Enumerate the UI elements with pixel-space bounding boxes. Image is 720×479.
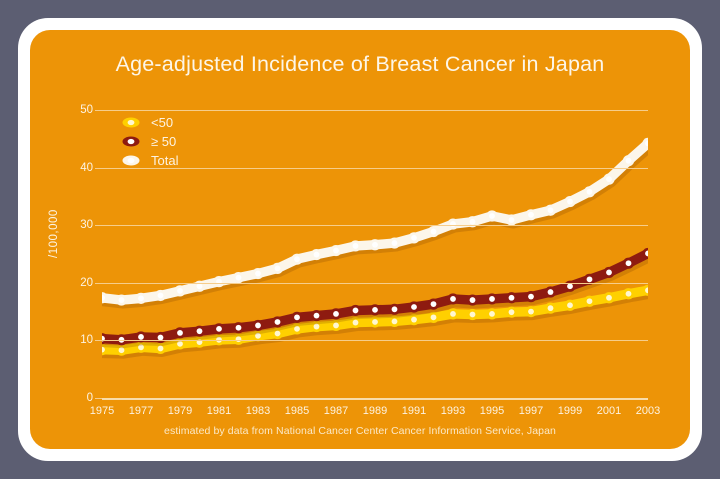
data-point xyxy=(353,308,359,314)
gridline xyxy=(102,225,648,226)
data-point xyxy=(294,256,300,262)
data-point xyxy=(411,317,417,323)
data-point xyxy=(528,212,534,218)
y-tick-dash xyxy=(95,398,102,399)
x-tick-label: 2001 xyxy=(597,405,621,417)
y-tick-dash xyxy=(95,225,102,226)
legend-marker-icon xyxy=(120,154,142,167)
data-point xyxy=(587,276,593,282)
x-tick-label: 1987 xyxy=(324,405,348,417)
screenshot-root: Age-adjusted Incidence of Breast Cancer … xyxy=(0,0,720,479)
y-tick-dash xyxy=(95,283,102,284)
data-point xyxy=(431,301,437,307)
chart-canvas xyxy=(102,110,648,398)
data-point xyxy=(353,320,359,326)
data-point xyxy=(314,252,320,258)
data-point xyxy=(411,235,417,241)
legend-marker-icon xyxy=(120,116,142,129)
data-point xyxy=(626,158,632,164)
y-tick-label: 10 xyxy=(80,334,93,346)
y-axis-label: /100,000 xyxy=(48,209,60,258)
data-point xyxy=(606,270,612,276)
legend-label: Total xyxy=(151,153,178,168)
data-point xyxy=(138,295,144,301)
chart-legend: <50≥ 50Total xyxy=(120,114,178,169)
data-point xyxy=(197,283,203,289)
data-point xyxy=(255,271,261,277)
data-point xyxy=(509,295,515,301)
data-point xyxy=(314,313,320,319)
x-tick-label: 1993 xyxy=(441,405,465,417)
gridline xyxy=(102,168,648,169)
x-tick-label: 1977 xyxy=(129,405,153,417)
y-tick-dash xyxy=(95,110,102,111)
data-point xyxy=(567,283,573,289)
data-point xyxy=(489,213,495,219)
data-point xyxy=(431,229,437,235)
gridline xyxy=(102,283,648,284)
y-tick-label: 40 xyxy=(80,162,93,174)
data-point xyxy=(626,291,632,297)
data-point xyxy=(177,330,183,336)
data-point xyxy=(567,199,573,205)
data-point xyxy=(392,318,398,324)
data-point xyxy=(587,189,593,195)
data-point xyxy=(372,319,378,325)
data-point xyxy=(548,207,554,213)
data-point xyxy=(411,304,417,310)
y-tick-label: 30 xyxy=(80,219,93,231)
data-point xyxy=(392,240,398,246)
data-point xyxy=(528,294,534,300)
x-tick-label: 2003 xyxy=(636,405,660,417)
data-point xyxy=(587,298,593,304)
data-point xyxy=(158,293,164,299)
data-point xyxy=(333,323,339,329)
gridline xyxy=(102,340,648,341)
legend-label: <50 xyxy=(151,115,173,130)
data-point xyxy=(197,328,203,334)
data-point xyxy=(489,311,495,317)
legend-item[interactable]: <50 xyxy=(120,114,178,131)
data-point xyxy=(626,260,632,266)
data-point xyxy=(275,266,281,272)
gridline xyxy=(102,110,648,111)
data-point xyxy=(236,325,242,331)
data-point xyxy=(158,346,164,352)
legend-marker-icon xyxy=(120,135,142,148)
legend-item[interactable]: ≥ 50 xyxy=(120,133,178,150)
data-point xyxy=(333,311,339,317)
x-axis-line xyxy=(102,398,648,400)
y-tick-dash xyxy=(95,168,102,169)
x-tick-label: 1991 xyxy=(402,405,426,417)
data-point xyxy=(372,307,378,313)
data-point xyxy=(275,319,281,325)
data-point xyxy=(275,331,281,337)
data-point xyxy=(606,176,612,182)
data-point xyxy=(333,248,339,254)
x-tick-label: 1975 xyxy=(90,405,114,417)
data-point xyxy=(470,297,476,303)
x-tick-label: 1985 xyxy=(285,405,309,417)
x-tick-label: 1995 xyxy=(480,405,504,417)
data-point xyxy=(392,306,398,312)
x-tick-label: 1997 xyxy=(519,405,543,417)
source-note: estimated by data from National Cancer C… xyxy=(30,425,690,437)
x-tick-label: 1981 xyxy=(207,405,231,417)
x-tick-label: 1979 xyxy=(168,405,192,417)
data-point xyxy=(528,309,534,315)
legend-label: ≥ 50 xyxy=(151,134,176,149)
data-point xyxy=(548,289,554,295)
data-point xyxy=(606,295,612,301)
series-total xyxy=(102,138,648,306)
page-title: Age-adjusted Incidence of Breast Cancer … xyxy=(30,52,690,77)
data-point xyxy=(431,314,437,320)
data-point xyxy=(177,288,183,294)
data-point xyxy=(509,309,515,315)
data-point xyxy=(314,324,320,330)
data-point xyxy=(450,296,456,302)
y-tick-label: 20 xyxy=(80,277,93,289)
data-point xyxy=(236,275,242,281)
data-point xyxy=(548,305,554,311)
data-point xyxy=(470,219,476,225)
y-tick-dash xyxy=(95,340,102,341)
data-point xyxy=(470,312,476,318)
x-tick-label: 1983 xyxy=(246,405,270,417)
data-point xyxy=(294,314,300,320)
chart-panel: Age-adjusted Incidence of Breast Cancer … xyxy=(30,30,690,449)
data-point xyxy=(353,243,359,249)
legend-item[interactable]: Total xyxy=(120,152,178,169)
data-point xyxy=(567,302,573,308)
data-point xyxy=(372,242,378,248)
data-point xyxy=(255,323,261,329)
x-tick-label: 1999 xyxy=(558,405,582,417)
data-point xyxy=(489,296,495,302)
y-tick-label: 0 xyxy=(87,392,93,404)
data-point xyxy=(509,217,515,223)
y-tick-label: 50 xyxy=(80,104,93,116)
data-point xyxy=(138,334,144,340)
data-point xyxy=(119,297,125,303)
data-point xyxy=(216,326,222,332)
x-tick-label: 1989 xyxy=(363,405,387,417)
plot-area: 01020304050 1975197719791981198319851987… xyxy=(102,110,648,398)
data-point xyxy=(450,311,456,317)
